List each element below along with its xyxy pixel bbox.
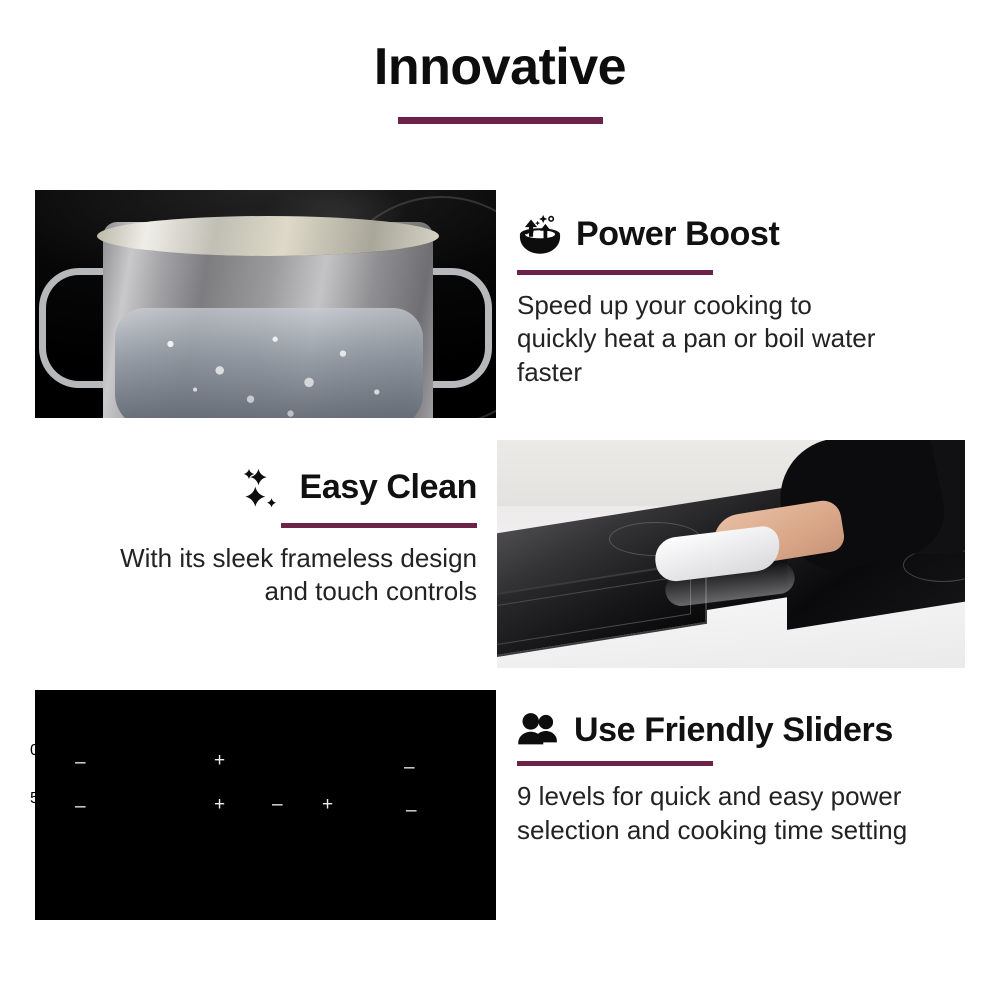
pot-boost-icon bbox=[517, 212, 563, 258]
feature-heading-easy-clean: Easy Clean bbox=[100, 465, 477, 511]
feature-title-use-friendly-sliders: Use Friendly Sliders bbox=[574, 712, 893, 749]
led-right-zone-top: 8. bbox=[378, 742, 391, 760]
title-underline-divider bbox=[398, 117, 603, 124]
led-timer-value: 31. bbox=[312, 742, 334, 760]
page-header: Innovative bbox=[0, 40, 1000, 124]
led-left-zone-top: 0 bbox=[30, 742, 39, 760]
feature-description-power-boost: Speed up your cooking to quickly heat a … bbox=[517, 289, 882, 389]
image-slider-control-panel bbox=[35, 690, 496, 920]
feature-title-easy-clean: Easy Clean bbox=[300, 469, 477, 506]
plus-button-zone-1[interactable]: + bbox=[214, 750, 225, 772]
page-title: Innovative bbox=[0, 40, 1000, 95]
led-right-zone-bottom: 0 bbox=[382, 790, 391, 808]
feature-heading-power-boost: Power Boost bbox=[517, 212, 977, 258]
minus-button-zone-4[interactable]: – bbox=[406, 800, 417, 822]
feature-rule-power-boost bbox=[517, 270, 713, 275]
image-boiling-pot bbox=[35, 190, 496, 418]
feature-description-easy-clean: With its sleek frameless design and touc… bbox=[100, 542, 477, 609]
feature-text-easy-clean: Easy Clean With its sleek frameless desi… bbox=[100, 465, 477, 609]
feature-text-use-friendly-sliders: Use Friendly Sliders 9 levels for quick … bbox=[517, 712, 987, 847]
minus-button-zone-3[interactable]: – bbox=[404, 757, 415, 779]
feature-heading-use-friendly-sliders: Use Friendly Sliders bbox=[517, 712, 987, 749]
feature-rule-use-friendly-sliders bbox=[517, 761, 713, 766]
sparkles-icon bbox=[241, 465, 287, 511]
minus-button-timer[interactable]: – bbox=[272, 794, 283, 816]
feature-text-power-boost: Power Boost Speed up your cooking to qui… bbox=[517, 212, 977, 389]
minus-button-zone-2[interactable]: – bbox=[75, 796, 86, 818]
plus-button-zone-2[interactable]: + bbox=[214, 794, 225, 816]
minus-button-zone-1[interactable]: – bbox=[75, 752, 86, 774]
image-wiping-cooktop bbox=[497, 440, 965, 668]
feature-rule-easy-clean bbox=[281, 523, 477, 528]
people-icon bbox=[517, 713, 561, 749]
pot-rim bbox=[97, 216, 439, 256]
plus-button-timer[interactable]: + bbox=[322, 794, 333, 816]
feature-description-use-friendly-sliders: 9 levels for quick and easy power select… bbox=[517, 780, 932, 847]
led-left-zone-bottom: 5. bbox=[30, 790, 43, 808]
boiling-water bbox=[115, 308, 423, 418]
infographic-page: Innovative bbox=[0, 0, 1000, 1000]
feature-title-power-boost: Power Boost bbox=[576, 216, 779, 253]
